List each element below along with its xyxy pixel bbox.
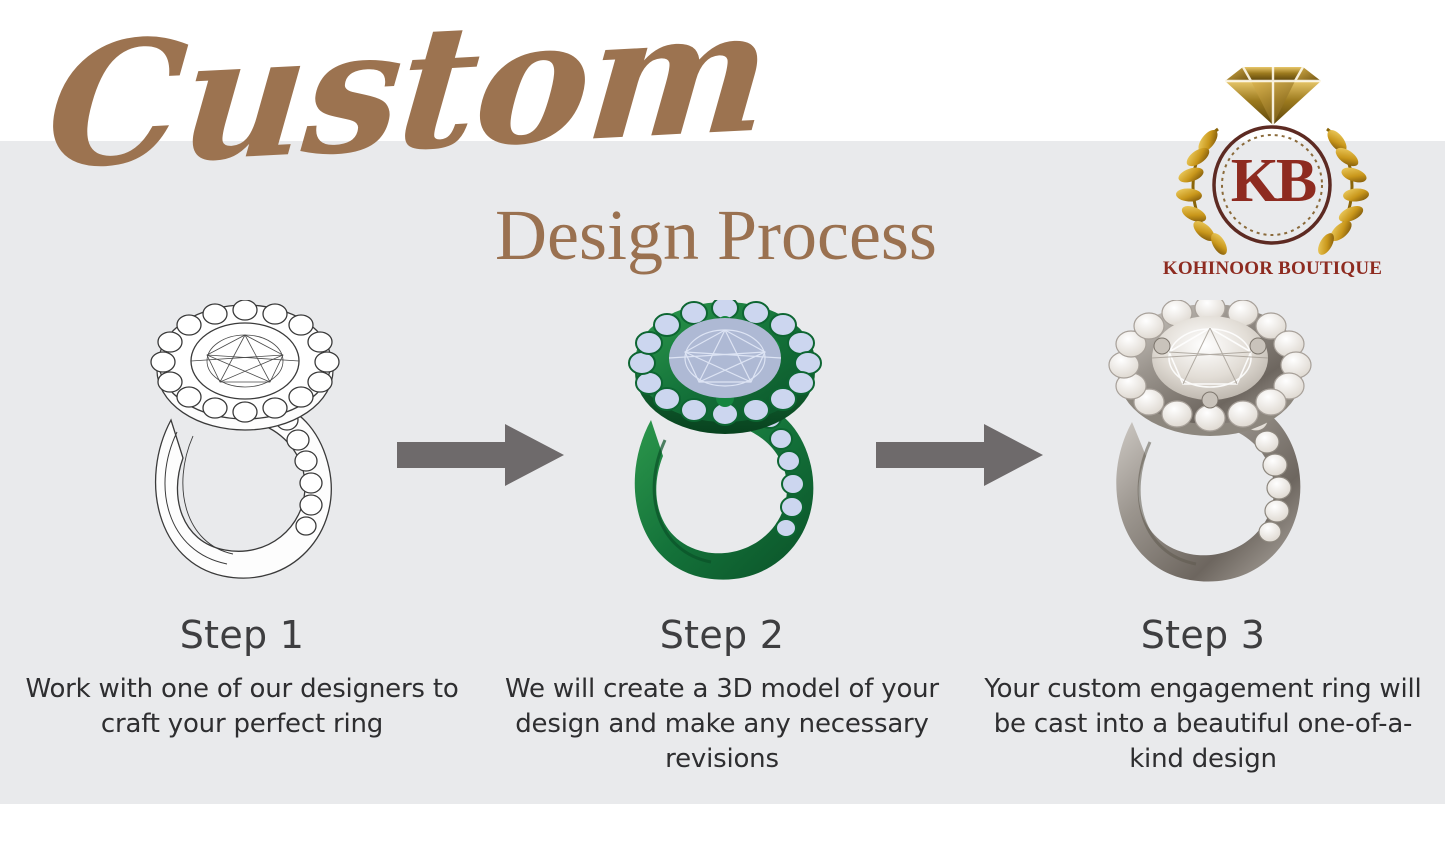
ring-image-step-2 [595,300,855,590]
ring-sketch-line-art [115,300,375,590]
step-description-2: We will create a 3D model of your design… [482,672,962,777]
step-caption-1: Step 1 Work with one of our designers to… [2,612,482,742]
footer-white-band [0,804,1445,849]
page-title-script: Custom [38,0,721,228]
ring-image-step-3 [1080,300,1340,590]
step-description-1: Work with one of our designers to craft … [2,672,482,742]
step-description-3: Your custom engagement ring will be cast… [963,672,1443,777]
arrow-step1-to-step2 [393,420,568,490]
step-title-2: Step 2 [482,612,962,658]
step-caption-3: Step 3 Your custom engagement ring will … [963,612,1443,777]
process-steps-row [0,300,1445,600]
step-title-1: Step 1 [2,612,482,658]
page-subtitle: Design Process [495,196,1015,274]
ring-3d-cad-model-green [595,300,855,590]
step-caption-2: Step 2 We will create a 3D model of your… [482,612,962,777]
ring-finished-white-gold-photo [1080,300,1340,590]
arrow-step2-to-step3 [872,420,1047,490]
logo-brand-name: KOHINOOR BOUTIQUE [1160,258,1385,280]
custom-design-process-banner: Custom Design Process [0,0,1445,849]
ring-image-step-1 [115,300,375,590]
step-title-3: Step 3 [963,612,1443,658]
brand-logo[interactable]: KB KOHINOOR BOUTIQUE [1160,55,1385,285]
logo-monogram: KB [1160,150,1385,212]
